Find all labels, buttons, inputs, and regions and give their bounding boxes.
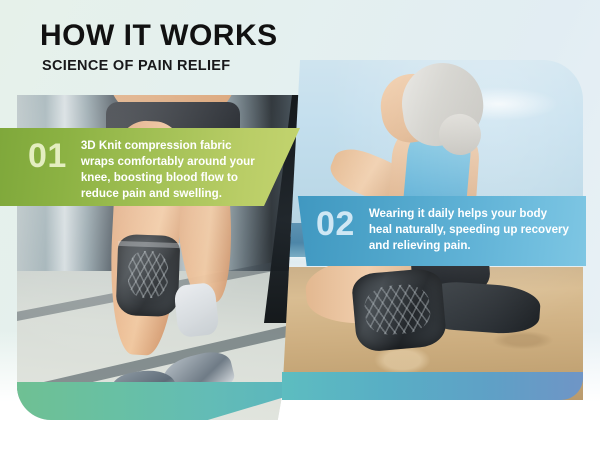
page-subtitle: SCIENCE OF PAIN RELIEF — [42, 58, 278, 74]
step-number-01: 01 — [28, 139, 67, 173]
header-block: HOW IT WORKS SCIENCE OF PAIN RELIEF — [40, 20, 278, 74]
infographic-canvas: HOW IT WORKS SCIENCE OF PAIN RELIEF 01 3… — [0, 0, 600, 450]
right-ribbon — [282, 372, 583, 400]
step-callout-01[interactable]: 01 3D Knit compression fabric wraps comf… — [0, 128, 300, 206]
step-number-02: 02 — [316, 207, 355, 241]
page-title: HOW IT WORKS — [40, 20, 278, 52]
step-text-02: Wearing it daily helps your body heal na… — [369, 206, 570, 254]
step-callout-02[interactable]: 02 Wearing it daily helps your body heal… — [292, 196, 586, 266]
step-text-01: 3D Knit compression fabric wraps comfort… — [81, 138, 259, 202]
